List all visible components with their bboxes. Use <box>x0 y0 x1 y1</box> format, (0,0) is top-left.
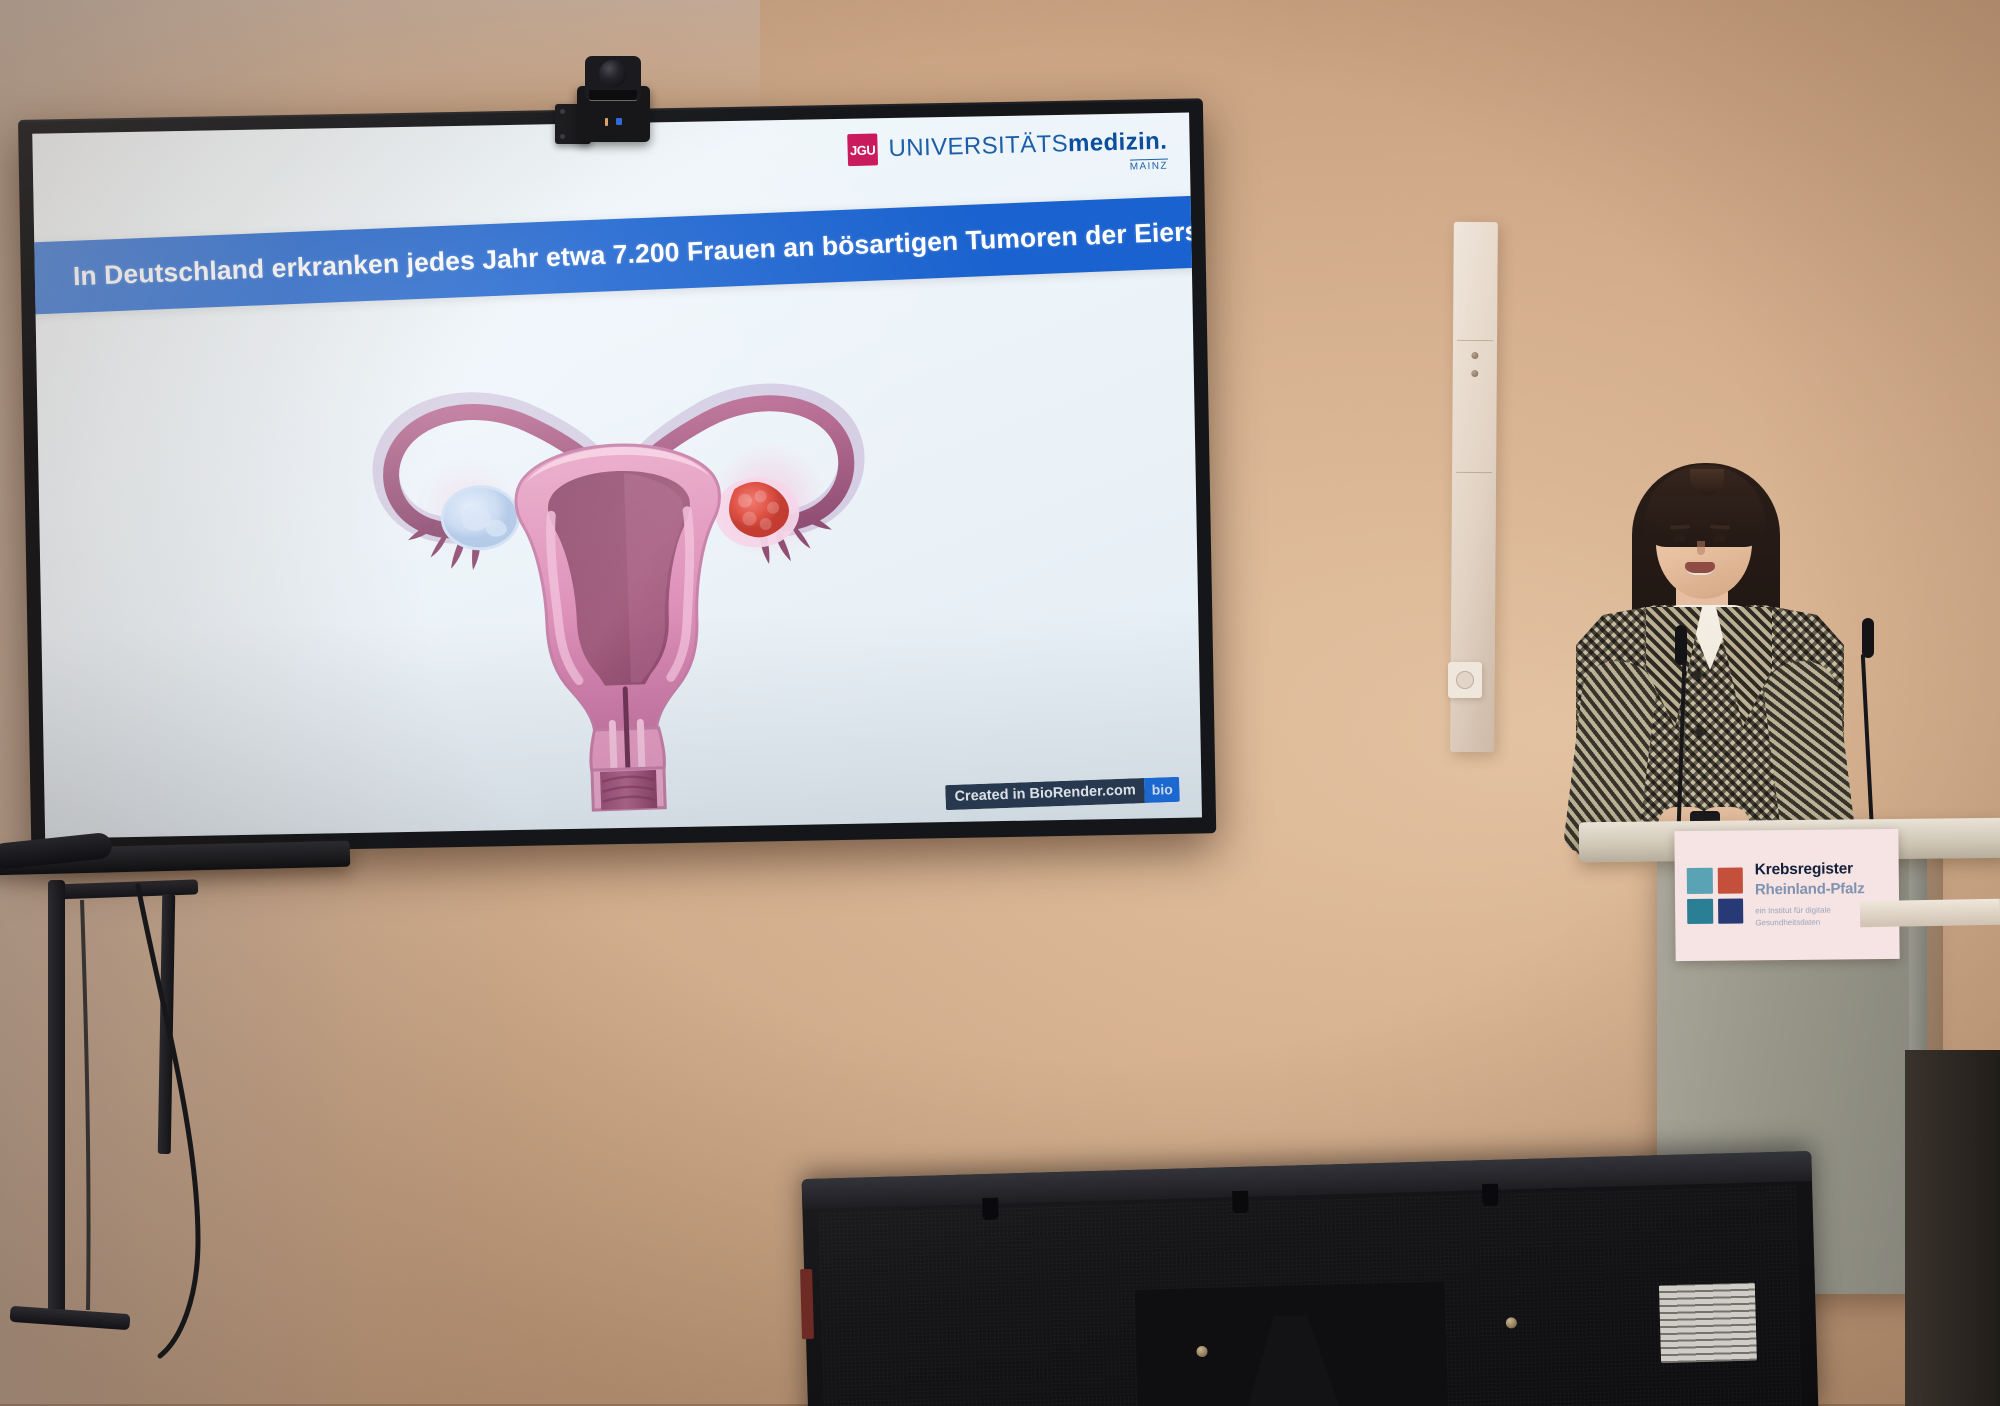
monitor-clip-left <box>982 1198 999 1220</box>
floor-cable <box>30 880 290 1360</box>
blazer-button-lower <box>1696 727 1705 736</box>
right-wall-ledge <box>1860 899 2000 927</box>
right-dark-panel <box>1905 1050 2000 1406</box>
foreground-monitor-rear <box>802 1151 1819 1406</box>
sign-subtitle: Rheinland-Pfalz <box>1755 880 1887 899</box>
microphone-capsule-right <box>1862 618 1874 658</box>
camera-tilt-slot <box>589 90 637 101</box>
lectern-sign: Krebsregister Rheinland-Pfalz ein Instit… <box>1674 829 1899 961</box>
monitor-spec-label <box>1659 1283 1757 1364</box>
camera-power-led <box>605 118 608 126</box>
monitor-clip-right <box>1482 1184 1499 1206</box>
conference-room-photo: JGU UNIVERSITÄTSmedizin. MAINZ In Deutsc… <box>0 0 2000 1406</box>
camera-lens-icon <box>599 60 627 87</box>
microphone-capsule-left <box>1675 625 1687 665</box>
sign-title: Krebsregister <box>1755 860 1887 880</box>
camera-status-led <box>616 118 622 125</box>
mouth <box>1685 562 1715 575</box>
ptz-camera <box>555 52 650 144</box>
monitor-clip-mid <box>1232 1191 1249 1213</box>
presenter <box>1540 455 1880 855</box>
blazer-button-upper <box>1692 671 1701 680</box>
eye-left <box>1673 535 1686 542</box>
nose <box>1697 541 1705 555</box>
krebsregister-logo-icon <box>1687 867 1744 924</box>
eye-right <box>1713 535 1726 542</box>
monitor-side-port <box>800 1269 814 1339</box>
